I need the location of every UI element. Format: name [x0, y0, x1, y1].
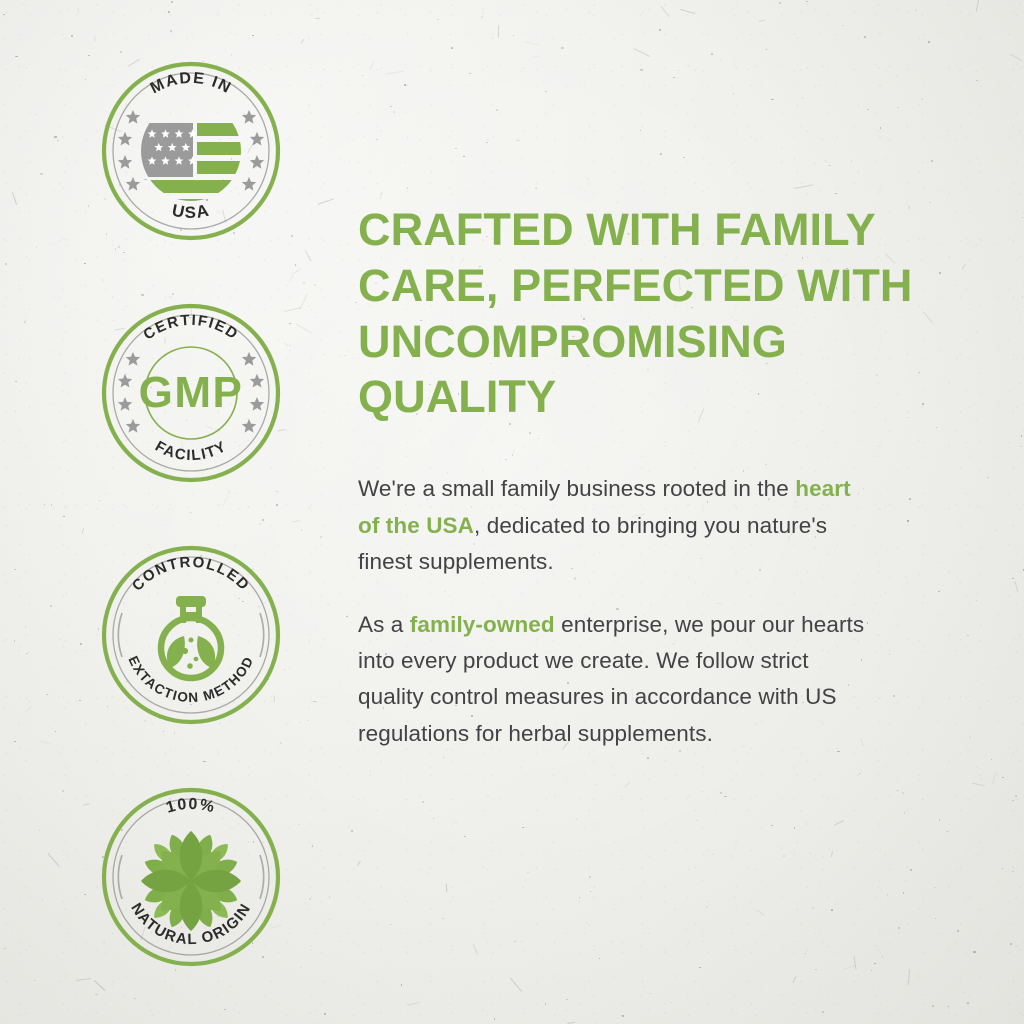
certification-badges: MADE IN USA GMP CERTIFIED FACILITY — [100, 60, 282, 968]
svg-text:100%: 100% — [164, 796, 217, 817]
flask-leaf-icon: CONTROLLED EXTACTION METHOD — [100, 544, 282, 726]
svg-text:MADE IN: MADE IN — [148, 70, 235, 98]
paragraph-text: We're a small family business rooted in … — [358, 476, 795, 501]
highlight-text: family-owned — [410, 612, 555, 637]
svg-text:GMP: GMP — [139, 368, 244, 417]
promo-graphic: MADE IN USA GMP CERTIFIED FACILITY — [0, 0, 1024, 1024]
gmp-text-icon: GMP CERTIFIED FACILITY — [100, 302, 282, 484]
gmp-certified-badge: GMP CERTIFIED FACILITY — [100, 302, 282, 484]
leaf-rosette-icon: 100% NATURAL ORIGIN — [100, 786, 282, 968]
body-copy: We're a small family business rooted in … — [358, 471, 878, 752]
page-title: Crafted with family care, perfected with… — [358, 202, 914, 425]
content-column: Crafted with family care, perfected with… — [358, 202, 918, 752]
controlled-extraction-badge: CONTROLLED EXTACTION METHOD — [100, 544, 282, 726]
natural-origin-badge: 100% NATURAL ORIGIN — [100, 786, 282, 968]
svg-text:USA: USA — [170, 201, 211, 222]
made-in-usa-badge: MADE IN USA — [100, 60, 282, 242]
usa-flag-circle-icon: MADE IN USA — [100, 60, 282, 242]
body-paragraph: We're a small family business rooted in … — [358, 471, 878, 580]
svg-text:CERTIFIED: CERTIFIED — [140, 312, 241, 344]
body-paragraph: As a family-owned enterprise, we pour ou… — [358, 607, 878, 753]
svg-text:FACILITY: FACILITY — [152, 438, 230, 464]
paragraph-text: As a — [358, 612, 410, 637]
